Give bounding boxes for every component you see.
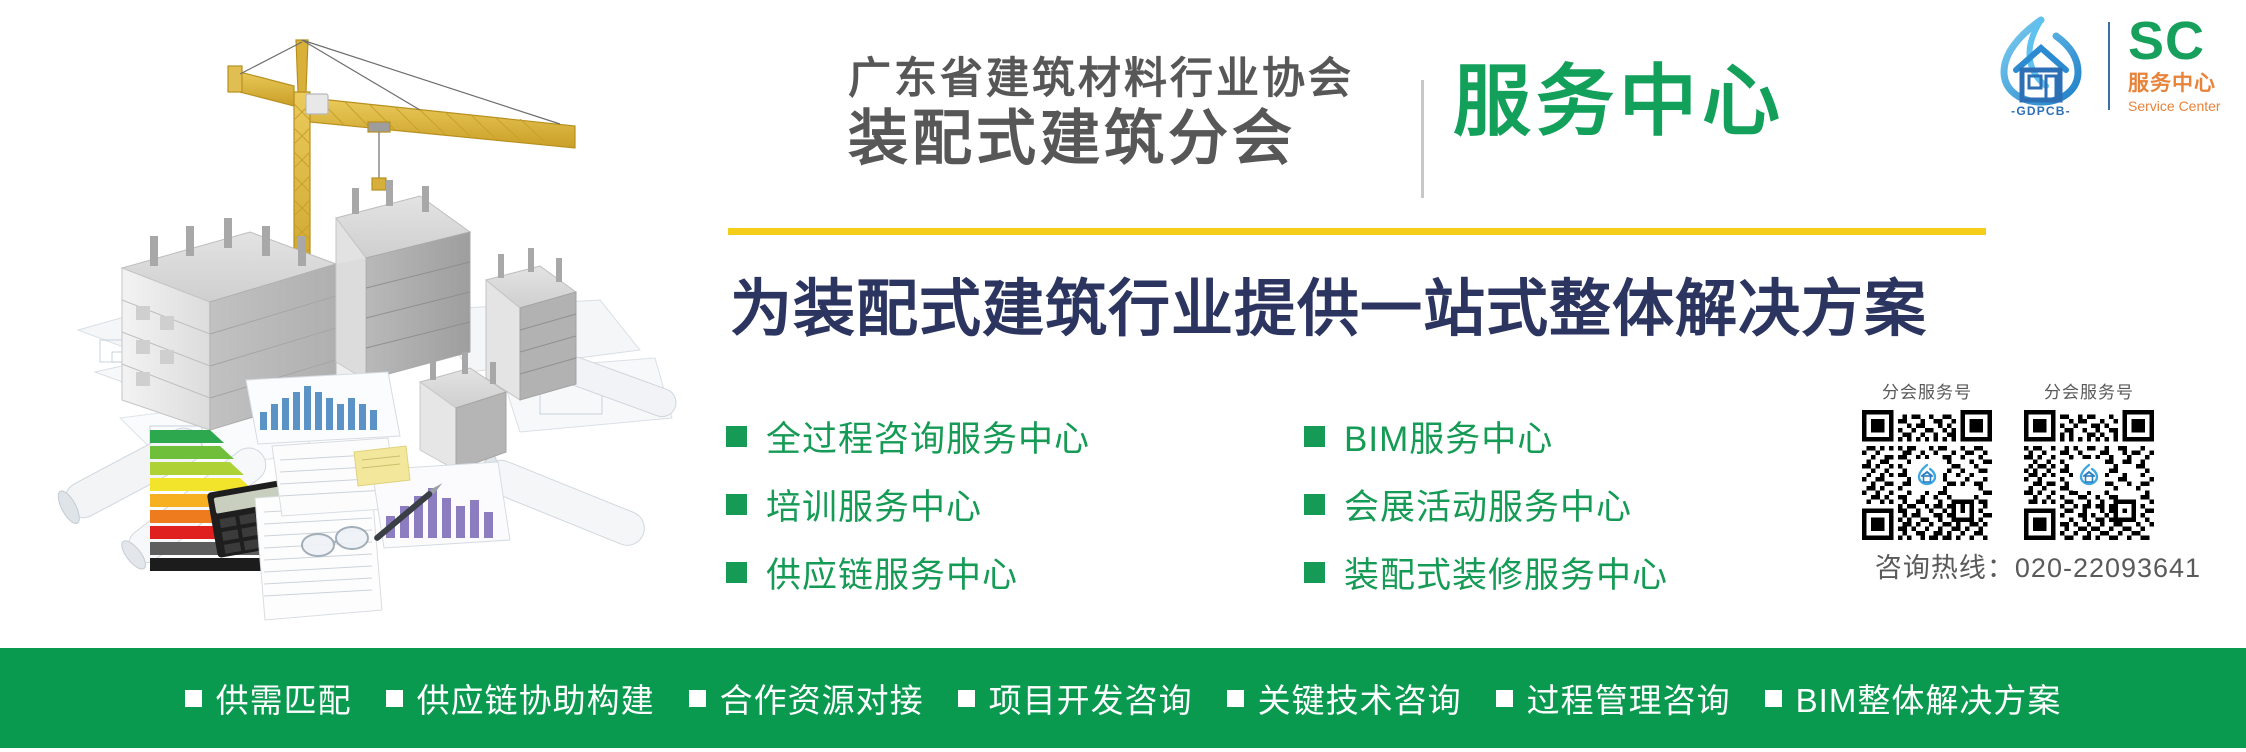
- footer-item-label: 合作资源对接: [720, 674, 924, 722]
- square-bullet-icon: [1304, 562, 1325, 583]
- qr-caption: 分会服务号: [2014, 378, 2164, 403]
- qr-group: 分会服务号: [2014, 378, 2164, 540]
- square-bullet-icon: [689, 690, 706, 707]
- hotline-text: 咨询热线：020-22093641: [1838, 546, 2238, 585]
- main-slogan: 为装配式建筑行业提供一站式整体解决方案: [730, 258, 1927, 348]
- square-bullet-icon: [726, 562, 747, 583]
- square-bullet-icon: [386, 690, 403, 707]
- gdpcb-house-logo-icon: -GDPCB-: [1988, 14, 2094, 118]
- footer-capability-bar: 供需匹配 供应链协助构建 合作资源对接 项目开发咨询 关键技术咨询 过程管理咨询…: [0, 648, 2246, 748]
- promo-banner: 广东省建筑材料行业协会 装配式建筑分会 服务中心 为装配式建筑行业提供一站式整体…: [0, 0, 2246, 752]
- qr-center-logo-icon: [1911, 459, 1943, 491]
- footer-item[interactable]: 项目开发咨询: [958, 674, 1193, 722]
- service-item-label: 培训服务中心: [766, 479, 982, 530]
- association-name: 广东省建筑材料行业协会 装配式建筑分会: [848, 58, 1354, 169]
- service-item-label: 全过程咨询服务中心: [766, 411, 1090, 462]
- sc-logo-block: SC 服务中心 Service Center: [2128, 17, 2240, 114]
- service-column-left: 全过程咨询服务中心 培训服务中心 供应链服务中心: [726, 402, 1090, 606]
- service-item-label: 会展活动服务中心: [1344, 479, 1632, 530]
- footer-item-label: BIM整体解决方案: [1796, 674, 2062, 722]
- service-item[interactable]: 装配式装修服务中心: [1304, 538, 1668, 606]
- gdpcb-wordmark: -GDPCB-: [2011, 104, 2071, 118]
- footer-bottom-hairline: [0, 748, 2246, 752]
- sticky-note: [354, 446, 410, 486]
- service-item-label: 装配式装修服务中心: [1344, 547, 1668, 598]
- footer-item[interactable]: BIM整体解决方案: [1765, 674, 2062, 722]
- hero-construction-illustration: [0, 0, 700, 648]
- square-bullet-icon: [1304, 426, 1325, 447]
- sc-english-label: Service Center: [2128, 98, 2240, 114]
- gold-divider-rule: [728, 228, 1986, 235]
- footer-item[interactable]: 过程管理咨询: [1496, 674, 1731, 722]
- qr-group: 分会服务号: [1852, 378, 2002, 540]
- footer-item[interactable]: 供需匹配: [185, 674, 352, 722]
- bar-chart-sheet: [246, 372, 400, 444]
- header-titles: 广东省建筑材料行业协会 装配式建筑分会 服务中心: [728, 28, 1988, 208]
- footer-item-label: 关键技术咨询: [1258, 674, 1462, 722]
- footer-item-label: 供应链协助构建: [417, 674, 655, 722]
- logo-vertical-divider: [2108, 22, 2110, 110]
- square-bullet-icon: [1765, 690, 1782, 707]
- square-bullet-icon: [1227, 690, 1244, 707]
- footer-item[interactable]: 供应链协助构建: [386, 674, 655, 722]
- square-bullet-icon: [958, 690, 975, 707]
- qr-caption: 分会服务号: [1852, 378, 2002, 403]
- service-column-right: BIM服务中心 会展活动服务中心 装配式装修服务中心: [1304, 402, 1668, 606]
- square-bullet-icon: [1304, 494, 1325, 515]
- sc-chinese-label: 服务中心: [2128, 67, 2240, 97]
- service-item[interactable]: 全过程咨询服务中心: [726, 402, 1090, 470]
- association-line-2: 装配式建筑分会: [848, 109, 1354, 169]
- qr-code-area: 分会服务号: [1838, 378, 2238, 568]
- sc-initials: SC: [2128, 17, 2240, 66]
- qr-code-image[interactable]: [1862, 410, 1992, 540]
- square-bullet-icon: [1496, 690, 1513, 707]
- service-item[interactable]: BIM服务中心: [1304, 402, 1668, 470]
- footer-item[interactable]: 关键技术咨询: [1227, 674, 1462, 722]
- footer-item[interactable]: 合作资源对接: [689, 674, 924, 722]
- square-bullet-icon: [185, 690, 202, 707]
- square-bullet-icon: [726, 494, 747, 515]
- service-item-label: 供应链服务中心: [766, 547, 1018, 598]
- title-vertical-divider: [1421, 80, 1424, 198]
- service-center-heading: 服务中心: [1453, 62, 1785, 140]
- service-item[interactable]: 会展活动服务中心: [1304, 470, 1668, 538]
- square-bullet-icon: [726, 426, 747, 447]
- footer-item-label: 项目开发咨询: [989, 674, 1193, 722]
- service-item[interactable]: 供应链服务中心: [726, 538, 1090, 606]
- association-line-1: 广东省建筑材料行业协会: [848, 58, 1354, 101]
- service-item[interactable]: 培训服务中心: [726, 470, 1090, 538]
- service-item-label: BIM服务中心: [1344, 411, 1553, 462]
- qr-code-image[interactable]: [2024, 410, 2154, 540]
- footer-item-label: 供需匹配: [216, 674, 352, 722]
- qr-center-logo-icon: [2073, 459, 2105, 491]
- logo-cluster: -GDPCB- SC 服务中心 Service Center: [1988, 14, 2238, 118]
- footer-item-label: 过程管理咨询: [1527, 674, 1731, 722]
